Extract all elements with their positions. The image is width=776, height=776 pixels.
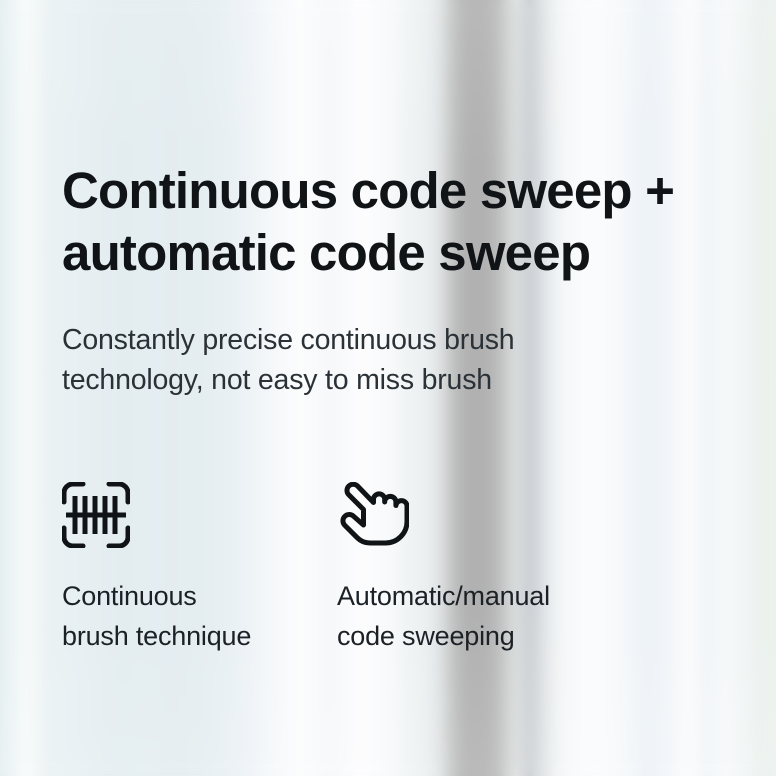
feature-item-continuous-brush: Continuous brush technique (62, 482, 337, 656)
slide-content: Continuous code sweep + automatic code s… (0, 0, 776, 776)
feature-item-code-sweeping: Automatic/manual code sweeping (337, 482, 612, 656)
feature-list: Continuous brush technique Automatic/man… (62, 482, 722, 656)
promo-slide: Continuous code sweep + automatic code s… (0, 0, 776, 776)
pointing-hand-tap-icon (337, 482, 612, 554)
feature-label: Continuous brush technique (62, 576, 337, 656)
feature-label: Automatic/manual code sweeping (337, 576, 612, 656)
headline: Continuous code sweep + automatic code s… (62, 160, 722, 284)
barcode-scan-icon (62, 482, 337, 554)
subheadline: Constantly precise continuous brush tech… (62, 320, 662, 400)
